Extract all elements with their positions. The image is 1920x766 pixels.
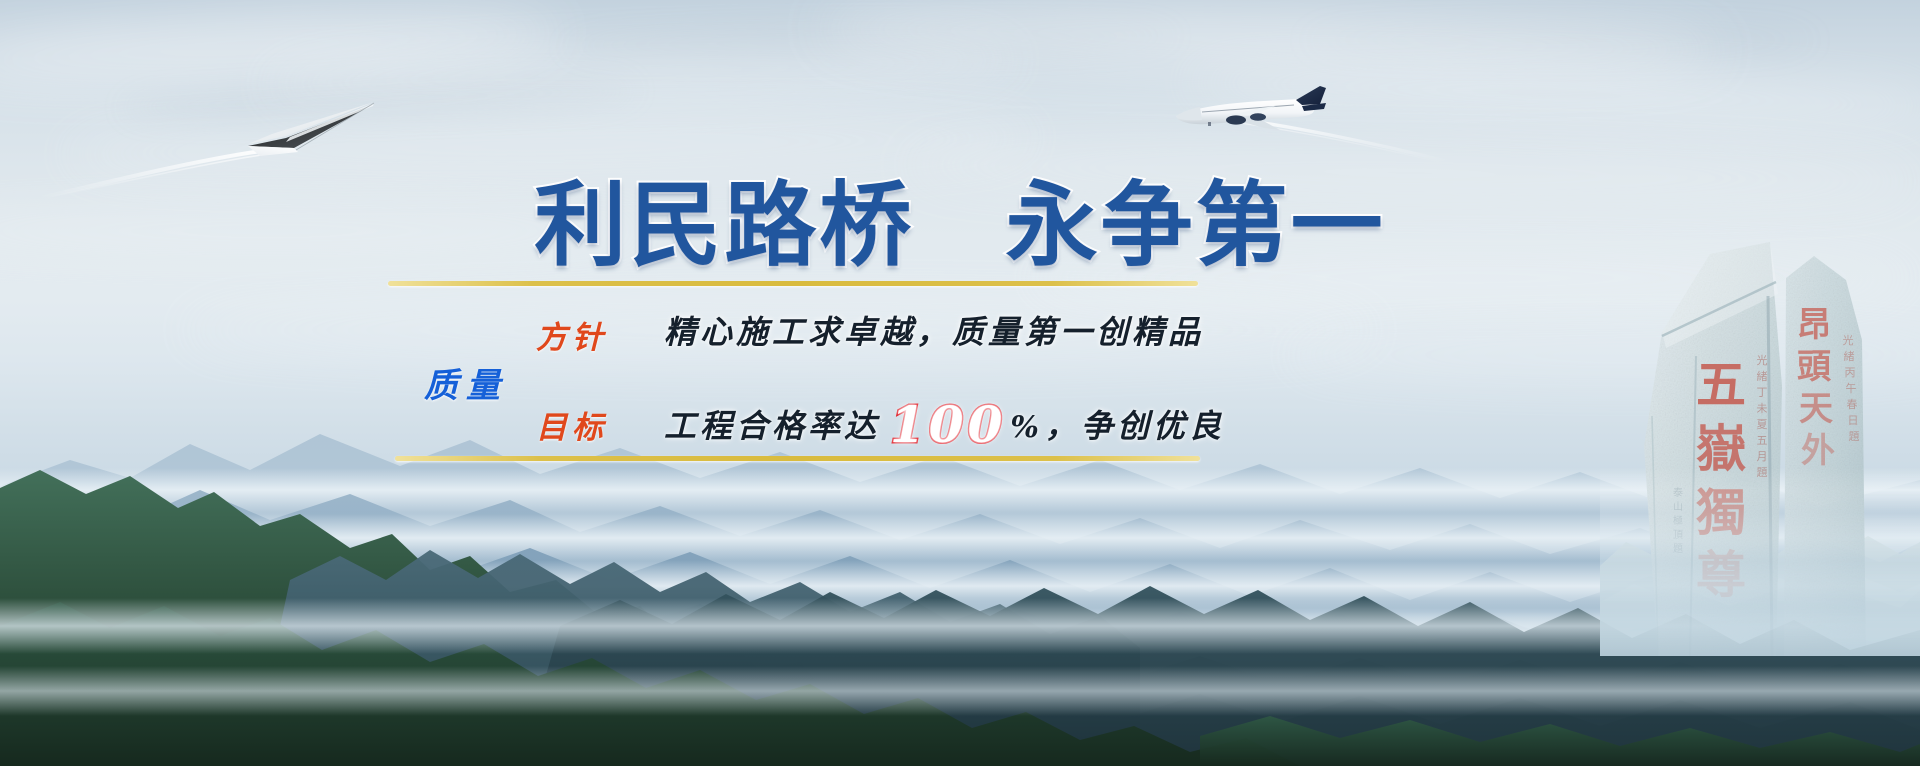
headline-part-1: 利民路桥 xyxy=(534,175,914,277)
goal-percent-sign: % xyxy=(1010,410,1043,445)
goal-text-before: 工程合格率达 xyxy=(664,401,880,447)
headline-part-2: 永争第一 xyxy=(1006,175,1386,277)
cloud-streak xyxy=(60,111,1041,180)
goal-label: 目标 xyxy=(536,402,608,447)
slogan-block: 质量 方针 精心施工求卓越，质量第一创精品 目标 工程合格率达 100 % ，争… xyxy=(388,290,1208,465)
banner-hero: 昂 頭 天 外 光 緒 丙 午 春 日 題 xyxy=(0,0,1920,766)
goal-highlight-value: 100 xyxy=(890,400,1006,450)
page-title: 利民路桥 永争第一 xyxy=(0,176,1920,276)
paper-plane-icon xyxy=(226,100,376,180)
quality-label: 质量 xyxy=(424,358,508,407)
policy-text: 精心施工求卓越，质量第一创精品 xyxy=(664,307,1204,353)
airplane-icon xyxy=(1168,86,1328,142)
goal-text: 工程合格率达 100 % ，争创优良 xyxy=(664,395,1225,447)
divider-top xyxy=(388,281,1198,286)
goal-text-after: ，争创优良 xyxy=(1045,401,1225,447)
policy-label: 方针 xyxy=(536,312,608,357)
stone-monument-icon: 昂 頭 天 外 光 緒 丙 午 春 日 題 xyxy=(1600,236,1920,656)
